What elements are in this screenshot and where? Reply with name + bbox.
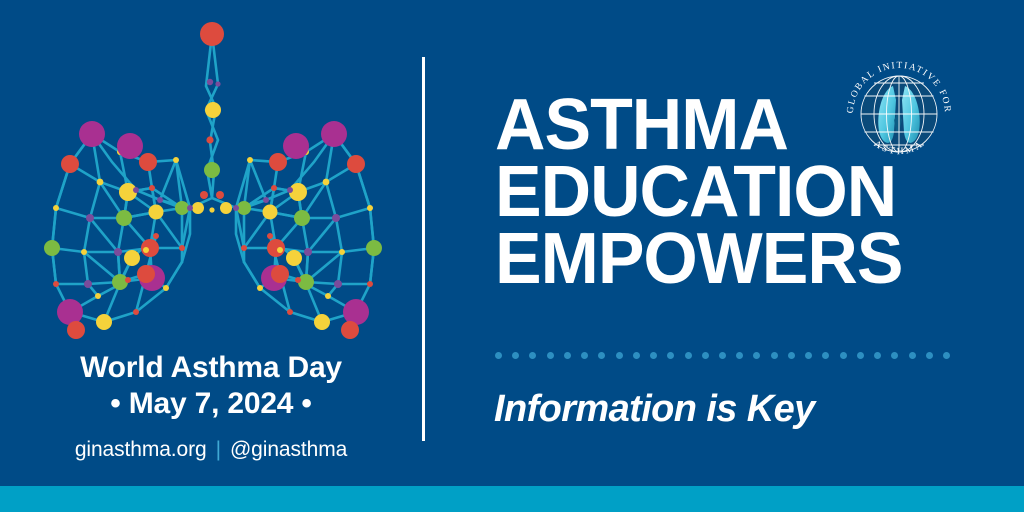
divider-dot xyxy=(633,352,640,359)
dotted-divider xyxy=(495,352,950,359)
right-panel: GLOBAL INITIATIVE FOR ASTHMA ASTHMA EDUC… xyxy=(422,0,1024,486)
headline: ASTHMA EDUCATION EMPOWERS xyxy=(495,92,995,293)
headline-line-2: EDUCATION xyxy=(495,159,980,226)
world-asthma-day-poster: World Asthma Day • May 7, 2024 • ginasth… xyxy=(0,0,1024,512)
divider-dot xyxy=(685,352,692,359)
divider-dot xyxy=(822,352,829,359)
subheadline: Information is Key xyxy=(494,388,815,431)
divider-dot xyxy=(753,352,760,359)
divider-dot xyxy=(616,352,623,359)
divider-dot xyxy=(771,352,778,359)
website-link[interactable]: ginasthma.org xyxy=(75,438,207,461)
left-panel: World Asthma Day • May 7, 2024 • ginasth… xyxy=(0,0,422,486)
headline-line-3: EMPOWERS xyxy=(495,226,980,293)
divider-dot xyxy=(909,352,916,359)
divider-dot xyxy=(805,352,812,359)
divider-dot xyxy=(581,352,588,359)
bottom-accent-bar xyxy=(0,486,1024,512)
divider-dot xyxy=(702,352,709,359)
divider-dot xyxy=(512,352,519,359)
divider-dot xyxy=(943,352,950,359)
divider-dot xyxy=(874,352,881,359)
link-separator: | xyxy=(207,438,230,461)
divider-dot xyxy=(788,352,795,359)
divider-dot xyxy=(857,352,864,359)
social-handle-link[interactable]: @ginasthma xyxy=(230,438,347,461)
divider-dot xyxy=(926,352,933,359)
left-text-block: World Asthma Day • May 7, 2024 • ginasth… xyxy=(0,352,422,462)
divider-dot xyxy=(891,352,898,359)
divider-dot xyxy=(495,352,502,359)
divider-dot xyxy=(650,352,657,359)
divider-dot xyxy=(667,352,674,359)
divider-dot xyxy=(547,352,554,359)
divider-dot xyxy=(598,352,605,359)
world-asthma-day-title: World Asthma Day xyxy=(0,352,422,384)
divider-dot xyxy=(529,352,536,359)
divider-dot xyxy=(840,352,847,359)
headline-line-1: ASTHMA xyxy=(495,92,980,159)
event-date: • May 7, 2024 • xyxy=(0,386,422,421)
divider-dot xyxy=(736,352,743,359)
contact-links: ginasthma.org|@ginasthma xyxy=(0,438,422,462)
divider-dot xyxy=(564,352,571,359)
divider-dot xyxy=(719,352,726,359)
network-lungs-illustration xyxy=(40,12,385,342)
